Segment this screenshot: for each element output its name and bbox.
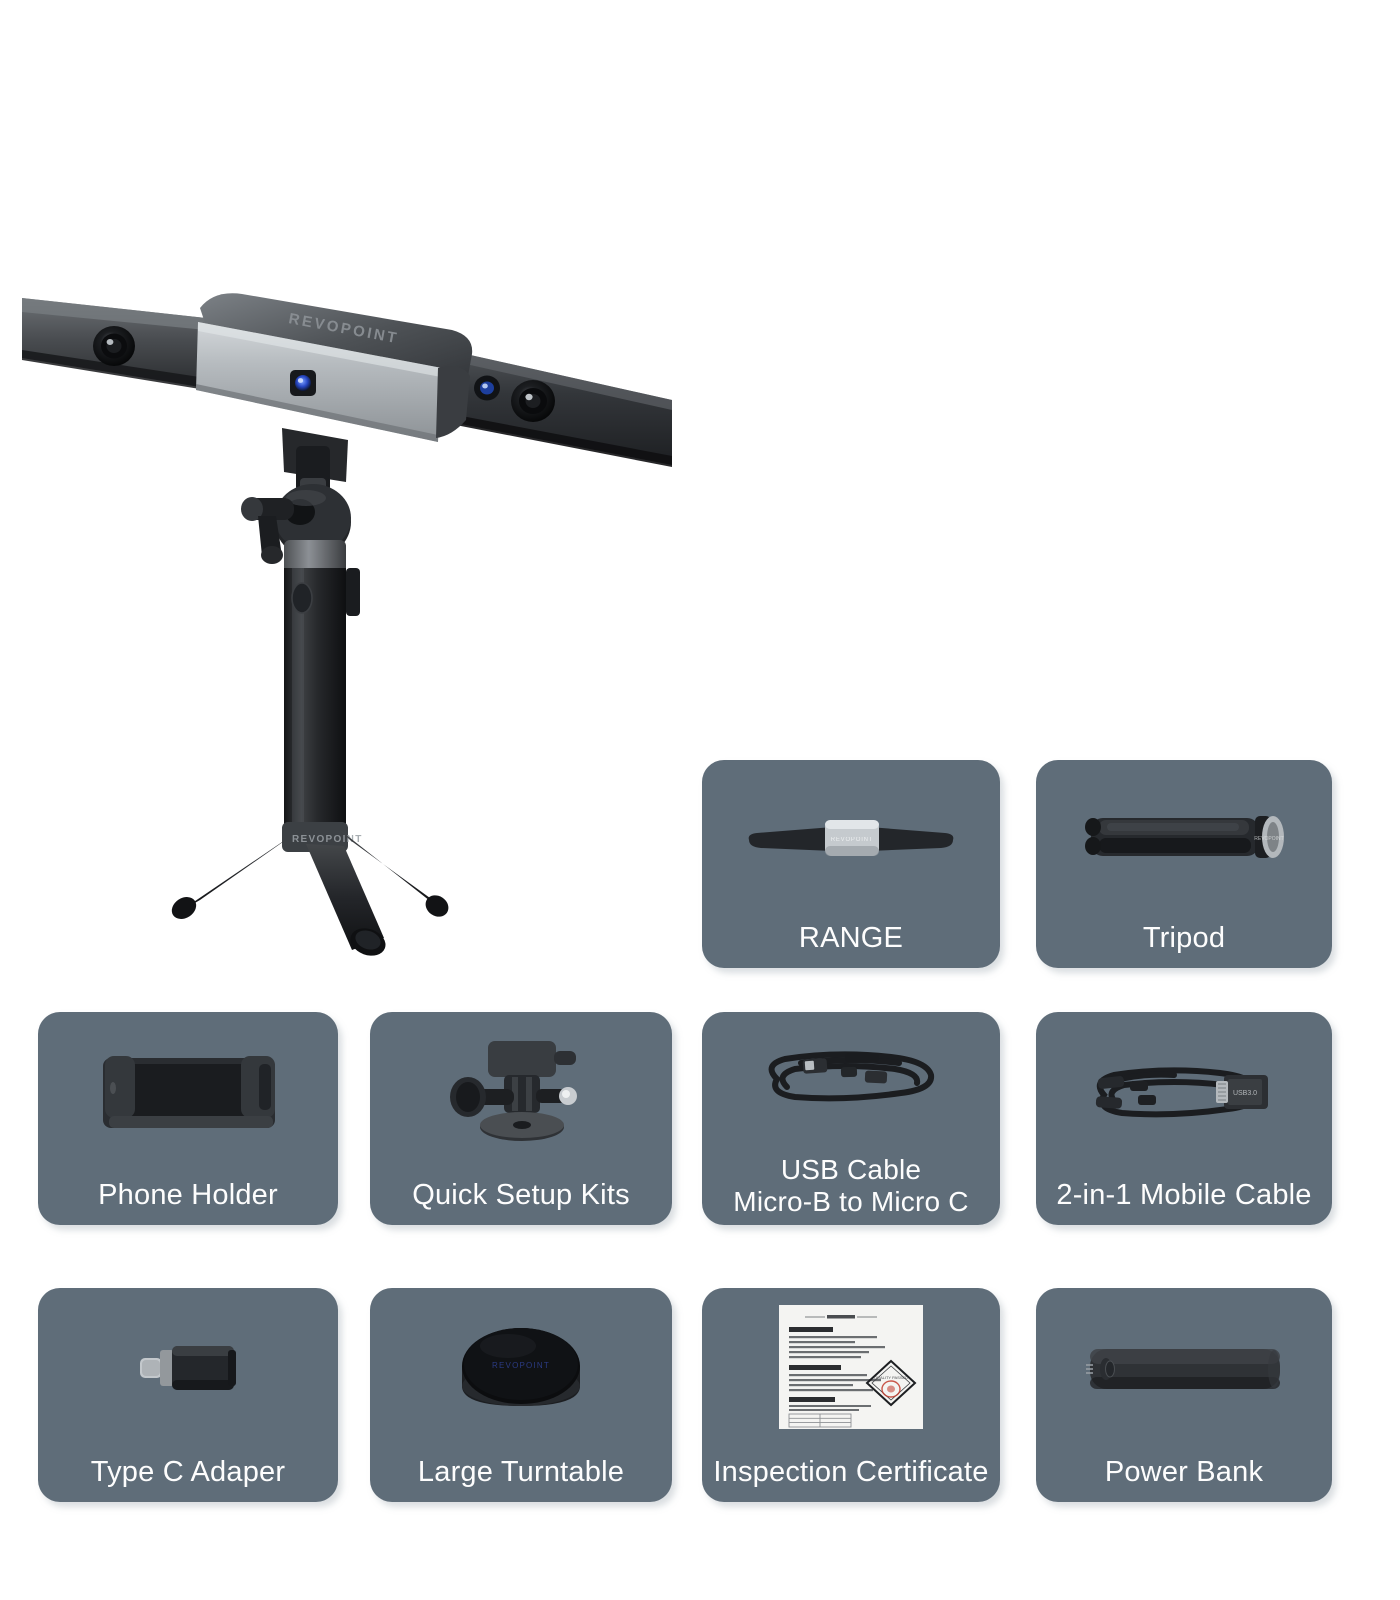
scanner-left-arm bbox=[22, 298, 206, 390]
accessory-card-power-bank[interactable]: Power Bank bbox=[1036, 1288, 1332, 1502]
accessory-label-usb-cable: USB Cable Micro-B to Micro C bbox=[702, 1154, 1000, 1217]
range-scanner-icon: REVOPOINT bbox=[702, 760, 1000, 912]
power-indicator-led bbox=[290, 370, 316, 396]
accessory-card-turntable[interactable]: REVOPOINT Large Turntable bbox=[370, 1288, 672, 1502]
accessory-label-turntable: Large Turntable bbox=[370, 1456, 672, 1488]
power-bank-icon bbox=[1036, 1288, 1332, 1446]
phone-holder-icon bbox=[38, 1012, 338, 1169]
folded-tripod-icon: REVOPOINT bbox=[1036, 760, 1332, 912]
svg-text:QUALITY PASSED: QUALITY PASSED bbox=[874, 1375, 908, 1380]
accessory-card-usb-cable[interactable]: USB Cable Micro-B to Micro C bbox=[702, 1012, 1000, 1225]
hero-product-image: REVOPOINT bbox=[0, 250, 700, 970]
tripod-center-column bbox=[284, 568, 360, 838]
accessory-label-certificate: Inspection Certificate bbox=[702, 1456, 1000, 1488]
scanner-body: REVOPOINT bbox=[196, 293, 472, 442]
accessory-label-mobile-cable: 2-in-1 Mobile Cable bbox=[1036, 1179, 1332, 1211]
accessory-label-tripod: Tripod bbox=[1036, 922, 1332, 954]
accessory-label-range: RANGE bbox=[702, 922, 1000, 954]
ir-projector bbox=[474, 376, 500, 401]
svg-text:USB3.0: USB3.0 bbox=[1233, 1090, 1257, 1097]
accessory-card-phone-holder[interactable]: Phone Holder bbox=[38, 1012, 338, 1225]
accessory-label-power-bank: Power Bank bbox=[1036, 1456, 1332, 1488]
package-contents-page: REVOPOINT bbox=[0, 0, 1400, 1600]
mobile-cable-icon: USB3.0 bbox=[1036, 1012, 1332, 1169]
certificate-document-icon: QUALITY PASSED bbox=[702, 1288, 1000, 1446]
usb-cable-icon bbox=[702, 1012, 1000, 1139]
accessory-card-range[interactable]: REVOPOINT RANGE bbox=[702, 760, 1000, 968]
accessory-label-type-c: Type C Adaper bbox=[38, 1456, 338, 1488]
accessory-card-tripod[interactable]: REVOPOINT Tripod bbox=[1036, 760, 1332, 968]
accessory-label-phone-holder: Phone Holder bbox=[38, 1179, 338, 1211]
accessory-label-quick-setup: Quick Setup Kits bbox=[370, 1179, 672, 1211]
right-camera-lens bbox=[511, 380, 555, 422]
type-c-adapter-icon bbox=[38, 1288, 338, 1446]
accessory-card-certificate[interactable]: QUALITY PASSED Inspection Certificate bbox=[702, 1288, 1000, 1502]
turntable-icon: REVOPOINT bbox=[370, 1288, 672, 1446]
quick-setup-kit-icon bbox=[370, 1012, 672, 1169]
svg-text:REVOPOINT: REVOPOINT bbox=[831, 837, 874, 843]
left-camera-lens bbox=[93, 326, 135, 366]
accessory-card-type-c-adapter[interactable]: Type C Adaper bbox=[38, 1288, 338, 1502]
svg-text:REVOPOINT: REVOPOINT bbox=[492, 1361, 550, 1370]
accessory-card-quick-setup[interactable]: Quick Setup Kits bbox=[370, 1012, 672, 1225]
tripod-legs bbox=[168, 830, 453, 960]
svg-text:REVOPOINT: REVOPOINT bbox=[1254, 836, 1283, 842]
accessory-card-mobile-cable[interactable]: USB3.0 2-in-1 Mobile Cable bbox=[1036, 1012, 1332, 1225]
